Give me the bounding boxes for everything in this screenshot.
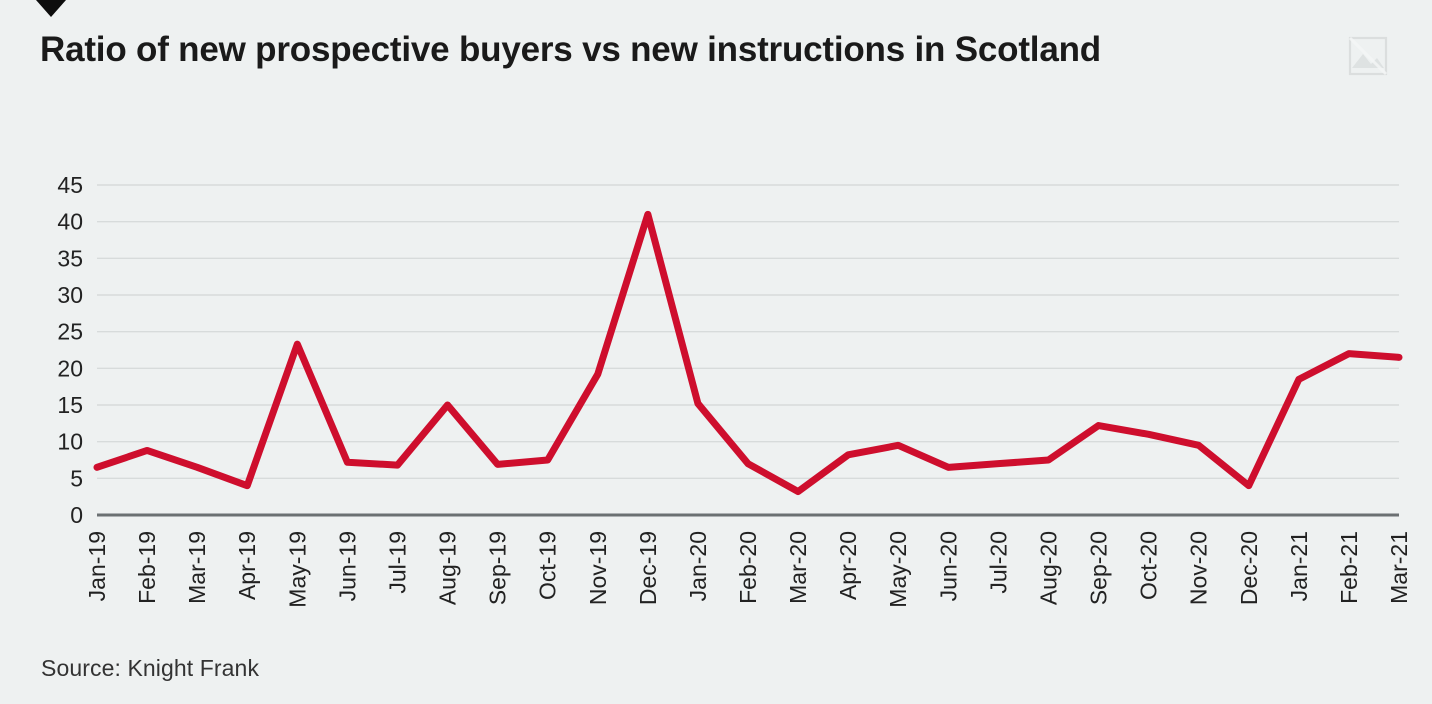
y-axis-tick-label: 0 <box>70 502 83 528</box>
x-axis-tick-label: Mar-19 <box>184 531 210 604</box>
y-axis-tick-label: 45 <box>57 172 83 198</box>
x-axis-tick-label: Feb-19 <box>134 531 160 604</box>
chart-card: Ratio of new prospective buyers vs new i… <box>0 0 1432 704</box>
x-axis-tick-label: Feb-21 <box>1336 531 1362 604</box>
x-axis-tick-label: Mar-21 <box>1386 531 1412 604</box>
y-axis-tick-label: 40 <box>57 209 83 235</box>
x-axis-tick-label: Nov-19 <box>585 531 611 605</box>
chart-plot-area: 051015202530354045Jan-19Feb-19Mar-19Apr-… <box>0 0 1432 704</box>
x-axis-tick-label: Dec-20 <box>1236 531 1262 605</box>
x-axis-tick-label: Apr-19 <box>234 531 260 600</box>
x-axis-tick-label: Dec-19 <box>635 531 661 605</box>
data-series-line <box>97 214 1399 491</box>
x-axis-tick-label: May-19 <box>284 531 310 608</box>
source-note: Source: Knight Frank <box>41 655 259 682</box>
y-axis-tick-label: 5 <box>70 465 83 491</box>
x-axis-tick-label: Jan-20 <box>685 531 711 601</box>
x-axis-tick-label: Aug-20 <box>1035 531 1061 605</box>
x-axis-tick-label: Jul-19 <box>384 531 410 594</box>
y-axis-tick-label: 30 <box>57 282 83 308</box>
x-axis-tick-label: Jan-19 <box>84 531 110 601</box>
x-axis-tick-label: Oct-19 <box>535 531 561 600</box>
x-axis-tick-label: Sep-20 <box>1086 531 1112 605</box>
y-axis-tick-label: 15 <box>57 392 83 418</box>
x-axis-tick-label: Jul-20 <box>985 531 1011 594</box>
x-axis-tick-label: Sep-19 <box>485 531 511 605</box>
y-axis-tick-label: 25 <box>57 319 83 345</box>
y-axis-tick-label: 20 <box>57 355 83 381</box>
x-axis-tick-label: Feb-20 <box>735 531 761 604</box>
x-axis-tick-label: May-20 <box>885 531 911 608</box>
x-axis-tick-label: Jun-20 <box>935 531 961 601</box>
x-axis-tick-label: Nov-20 <box>1186 531 1212 605</box>
x-axis-tick-label: Mar-20 <box>785 531 811 604</box>
x-axis-tick-label: Apr-20 <box>835 531 861 600</box>
y-axis-tick-label: 10 <box>57 429 83 455</box>
x-axis-tick-label: Jan-21 <box>1286 531 1312 601</box>
y-axis-tick-label: 35 <box>57 245 83 271</box>
x-axis-tick-label: Oct-20 <box>1136 531 1162 600</box>
x-axis-tick-label: Aug-19 <box>435 531 461 605</box>
x-axis-tick-label: Jun-19 <box>334 531 360 601</box>
